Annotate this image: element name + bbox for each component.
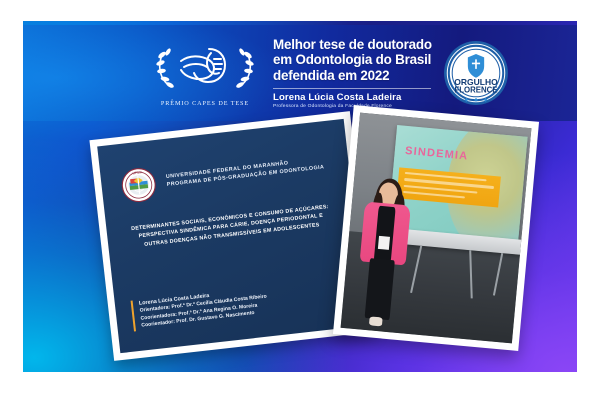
divider — [273, 88, 431, 89]
headline-line-3: defendida em 2022 — [273, 68, 432, 84]
banner-text-block: Melhor tese de doutorado em Odontologia … — [273, 37, 432, 109]
presenter-photo: SINDEMIA — [341, 113, 532, 344]
headline-line-1: Melhor tese de doutorado — [273, 37, 432, 53]
capes-caption: PRÊMIO CAPES DE TESE — [161, 100, 249, 107]
orgulho-florence-seal: ORGULHO FLORENCE — [442, 39, 510, 107]
name-badge — [378, 236, 390, 250]
shoe — [369, 317, 383, 327]
award-banner: PRÊMIO CAPES DE TESE Melhor tese de dout… — [23, 25, 577, 121]
laurel-wreath-face-logo — [151, 39, 259, 99]
svg-text:FLORENCE: FLORENCE — [454, 86, 497, 95]
awardee-name: Lorena Lúcia Costa Ladeira — [273, 92, 432, 103]
presenter-photo-card: SINDEMIA — [333, 105, 539, 351]
premio-capes-logo: PRÊMIO CAPES DE TESE — [149, 33, 261, 113]
poster-canvas: PRÊMIO CAPES DE TESE Melhor tese de dout… — [0, 0, 600, 400]
headline-line-2: em Odontologia do Brasil — [273, 52, 432, 68]
university-name: UNIVERSIDADE FEDERAL DO MARANHÃO PROGRAM… — [166, 157, 325, 190]
author-credits: Lorena Lúcia Costa Ladeira Orientadora: … — [131, 285, 269, 331]
ufma-crest-icon: UFMA — [120, 166, 158, 204]
thesis-slide: UFMA UNIVERSIDADE FEDERAL DO MARANHÃO PR… — [97, 119, 367, 353]
thesis-slide-card: UFMA UNIVERSIDADE FEDERAL DO MARANHÃO PR… — [89, 111, 374, 361]
thesis-title: DETERMINANTES SOCIAIS, ECONÔMICOS E CONS… — [122, 202, 339, 251]
university-header: UFMA UNIVERSIDADE FEDERAL DO MARANHÃO PR… — [120, 145, 350, 204]
trousers — [364, 258, 395, 320]
gradient-background: PRÊMIO CAPES DE TESE Melhor tese de dout… — [23, 21, 577, 372]
